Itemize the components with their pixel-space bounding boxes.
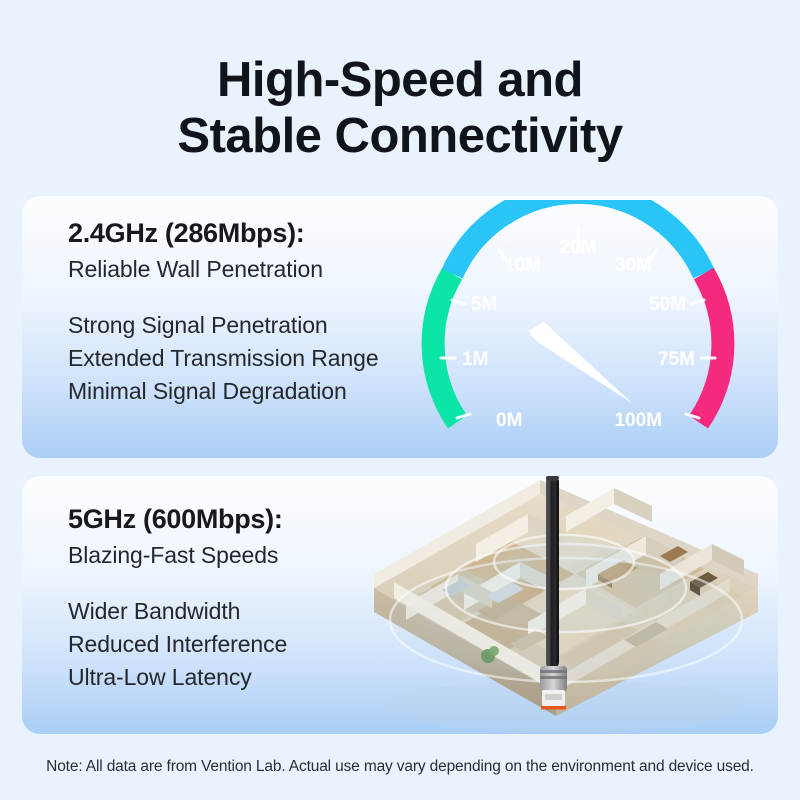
list-item: Reduced Interference bbox=[68, 628, 287, 661]
card-5ghz-text: 5GHz (600Mbps): Blazing-Fast Speeds Wide… bbox=[68, 504, 287, 694]
list-item: Extended Transmission Range bbox=[68, 342, 379, 375]
gauge-needle bbox=[528, 322, 632, 403]
card-2-4ghz-title: 2.4GHz (286Mbps): bbox=[68, 218, 379, 249]
gauge-tick-label-0m: 0M bbox=[496, 410, 522, 431]
list-item: Ultra-Low Latency bbox=[68, 661, 287, 694]
card-5ghz: 5GHz (600Mbps): Blazing-Fast Speeds Wide… bbox=[22, 476, 778, 734]
footer-note: Note: All data are from Vention Lab. Act… bbox=[0, 758, 800, 776]
usb-orange-stripe bbox=[541, 706, 566, 710]
speedometer-gauge: 0M 1M 5M 10M 20M 30M 50M 75M 100M bbox=[400, 200, 778, 456]
list-item: Strong Signal Penetration bbox=[68, 309, 379, 342]
list-item: Minimal Signal Degradation bbox=[68, 375, 379, 408]
card-5ghz-title: 5GHz (600Mbps): bbox=[68, 504, 287, 535]
headline-line-1: High-Speed and bbox=[217, 53, 583, 107]
list-item: Wider Bandwidth bbox=[68, 595, 287, 628]
gauge-segment-pink bbox=[699, 274, 723, 422]
card-2-4ghz-text: 2.4GHz (286Mbps): Reliable Wall Penetrat… bbox=[68, 218, 379, 408]
gauge-segment-green bbox=[433, 274, 457, 422]
gauge-tick-label-100m: 100M bbox=[614, 410, 662, 431]
gauge-tick-label-10m: 10M bbox=[504, 255, 541, 276]
gauge-tick-label-20m: 20M bbox=[560, 237, 597, 258]
headline-line-2: Stable Connectivity bbox=[0, 108, 800, 164]
page-title: High-Speed and Stable Connectivity bbox=[0, 52, 800, 164]
gauge-tick-label-1m: 1M bbox=[462, 349, 488, 370]
infographic-page: High-Speed and Stable Connectivity 2.4GH… bbox=[0, 0, 800, 800]
card-5ghz-subtitle: Blazing-Fast Speeds bbox=[68, 542, 287, 569]
card-2-4ghz-feature-list: Strong Signal Penetration Extended Trans… bbox=[68, 309, 379, 408]
card-2-4ghz: 2.4GHz (286Mbps): Reliable Wall Penetrat… bbox=[22, 196, 778, 458]
gauge-tick-label-50m: 50M bbox=[649, 294, 686, 315]
usb-wifi-dongle bbox=[540, 666, 567, 710]
wifi-antenna bbox=[546, 476, 559, 668]
card-5ghz-feature-list: Wider Bandwidth Reduced Interference Ult… bbox=[68, 595, 287, 694]
gauge-tick-label-5m: 5M bbox=[471, 294, 497, 315]
gauge-tick-label-75m: 75M bbox=[658, 349, 695, 370]
house-floorplan-illustration bbox=[360, 476, 778, 734]
gauge-tick-label-30m: 30M bbox=[615, 255, 652, 276]
card-2-4ghz-subtitle: Reliable Wall Penetration bbox=[68, 256, 379, 283]
